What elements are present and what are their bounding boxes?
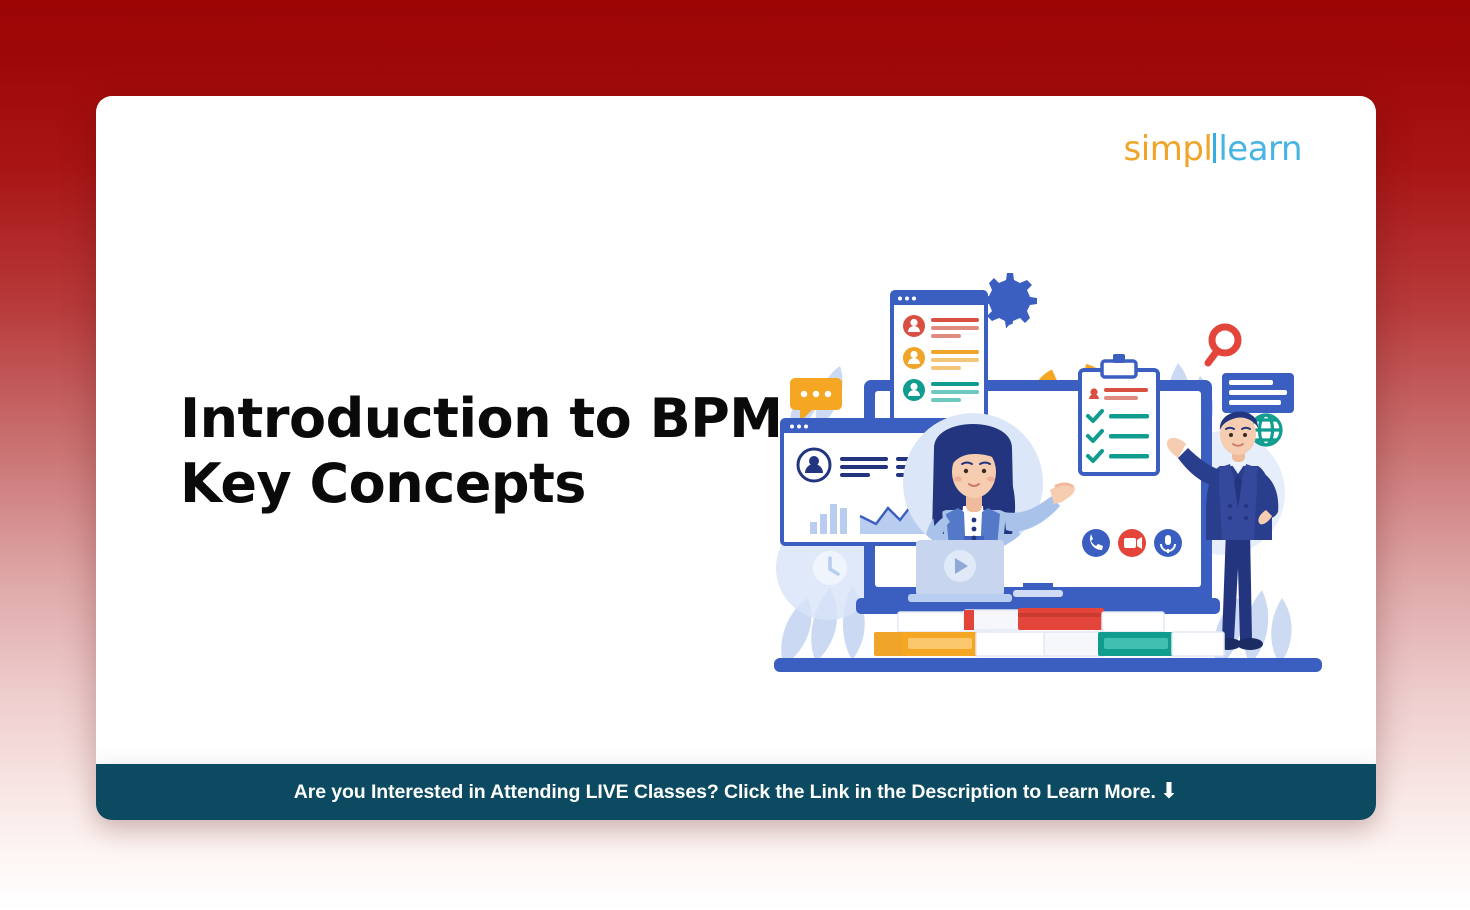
simplilearn-logo: simpl learn (1124, 130, 1302, 166)
phone-button (1082, 529, 1110, 557)
gear-icon (982, 273, 1037, 338)
cta-banner-text: Are you Interested in Attending LIVE Cla… (294, 781, 1156, 804)
laptop-play-button (908, 540, 1012, 602)
arrow-down-icon: ⬇ (1160, 781, 1178, 803)
ground-bar (774, 658, 1322, 672)
cta-banner[interactable]: Are you Interested in Attending LIVE Cla… (96, 764, 1376, 820)
logo-divider-bar (1213, 133, 1216, 163)
presenter-woman (924, 424, 1022, 560)
slide-card: simpl learn Introduction to BPM Key Conc… (96, 96, 1376, 764)
contact-list-card (892, 292, 986, 420)
book-stack (874, 608, 1224, 656)
clock-icon (813, 551, 847, 585)
call-control-buttons (1082, 529, 1182, 557)
logo-text-learn: learn (1218, 132, 1302, 166)
search-icon (1208, 327, 1238, 363)
slide-title: Introduction to BPM Key Concepts (180, 386, 800, 517)
online-learning-illustration (768, 268, 1328, 688)
logo-text-simpl: simpl (1124, 132, 1213, 166)
clipboard-checklist (1080, 354, 1158, 474)
